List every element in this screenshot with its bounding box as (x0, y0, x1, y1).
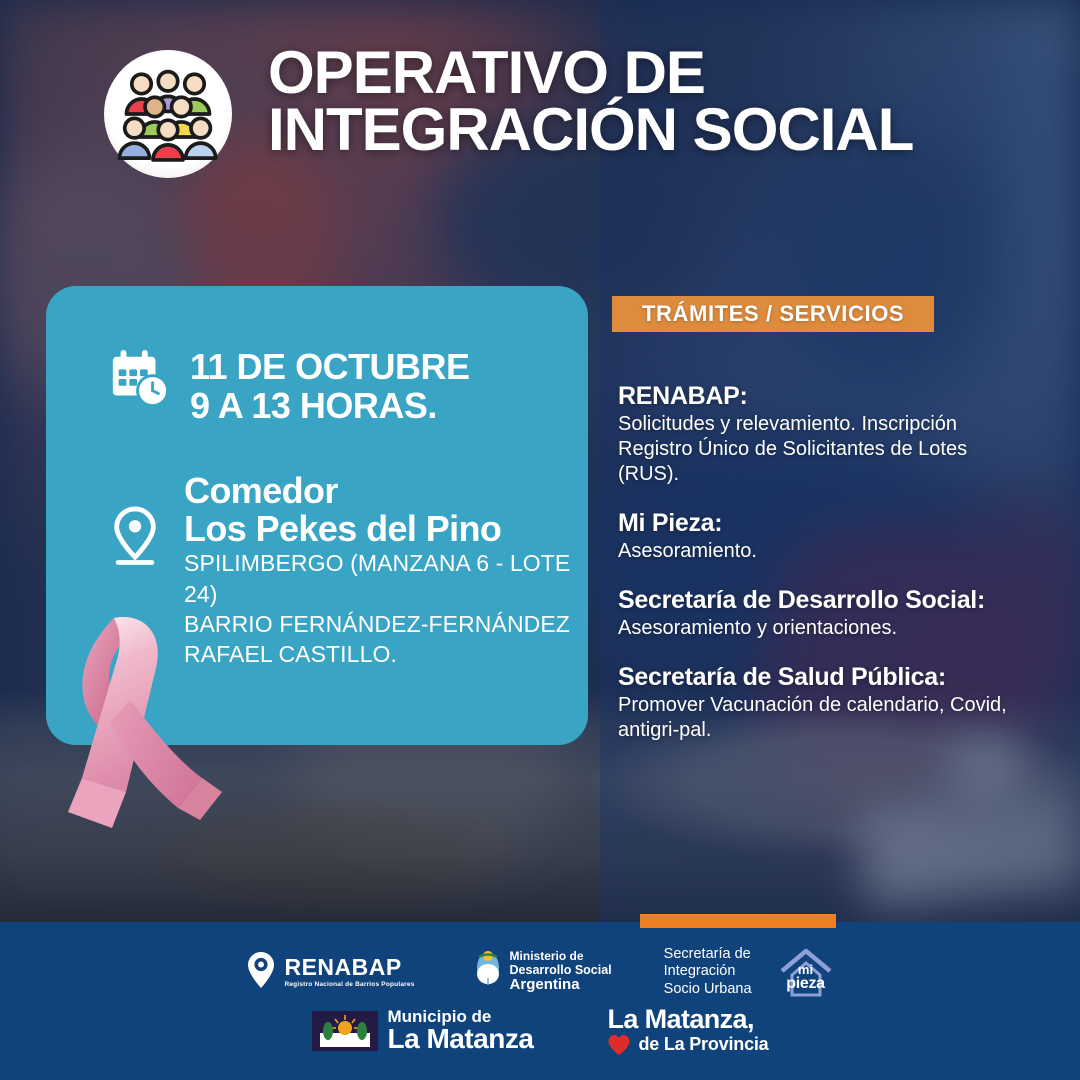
date-block: 11 DE OCTUBRE 9 A 13 HORAS. (108, 348, 470, 426)
secretaria-line-1: Secretaría de (664, 946, 752, 963)
heart-icon (607, 1034, 631, 1056)
la-matanza-crest-icon (312, 1011, 378, 1051)
service-heading: RENABAP: (618, 382, 1022, 411)
mi-pieza-logo: mi pieza (778, 947, 834, 997)
secretaria-line-2: Integración (664, 963, 752, 980)
title-line-2: INTEGRACIÓN SOCIAL (268, 101, 1058, 158)
municipio-line-2: La Matanza (388, 1025, 534, 1054)
footer-logo-row-2: Municipio de La Matanza La Matanza, de L… (0, 1006, 1080, 1056)
date-text: 11 DE OCTUBRE 9 A 13 HORAS. (190, 348, 470, 426)
venue-line-1: Comedor (184, 472, 578, 510)
page-title: OPERATIVO DE INTEGRACIÓN SOCIAL (268, 44, 1058, 158)
footer: RENABAP Registro Nacional de Barrios Pop… (0, 922, 1080, 1080)
services-list: RENABAP: Solicitudes y relevamiento. Ins… (618, 382, 1022, 765)
provincia-line-1: La Matanza, (607, 1006, 768, 1034)
date-line-1: 11 DE OCTUBRE (190, 348, 470, 387)
ministerio-line-2: Desarrollo Social (510, 963, 612, 977)
renabap-subtitle: Registro Nacional de Barrios Populares (284, 981, 414, 988)
argentina-shield-icon (473, 950, 503, 995)
secretaria-integracion-socio-urbana-logo: Secretaría de Integración Socio Urbana (664, 946, 752, 998)
renabap-logo: RENABAP Registro Nacional de Barrios Pop… (246, 951, 414, 994)
municipio-la-matanza-logo: Municipio de La Matanza (312, 1008, 534, 1054)
renabap-name: RENABAP (284, 956, 414, 979)
service-heading: Secretaría de Desarrollo Social: (618, 586, 1022, 615)
services-banner-label: TRÁMITES / SERVICIOS (642, 301, 904, 327)
location-pin-icon (108, 504, 162, 571)
poster-root: OPERATIVO DE INTEGRACIÓN SOCIAL (0, 0, 1080, 1080)
mi-pieza-text: mi pieza (778, 963, 834, 992)
la-matanza-provincia-logo: La Matanza, de La Provincia (607, 1006, 768, 1056)
footer-logo-row-1: RENABAP Registro Nacional de Barrios Pop… (0, 946, 1080, 998)
municipio-text: Municipio de La Matanza (388, 1008, 534, 1054)
mi-pieza-line-2: pieza (778, 976, 834, 992)
people-group-icon (104, 50, 232, 178)
header: OPERATIVO DE INTEGRACIÓN SOCIAL (0, 0, 1080, 200)
ministerio-text: Ministerio de Desarrollo Social Argentin… (510, 950, 612, 994)
venue-line-2: Los Pekes del Pino (184, 510, 578, 548)
service-item: RENABAP: Solicitudes y relevamiento. Ins… (618, 382, 1022, 487)
footer-accent-bar (640, 914, 836, 928)
service-heading: Secretaría de Salud Pública: (618, 663, 1022, 692)
ministerio-desarrollo-social-logo: Ministerio de Desarrollo Social Argentin… (473, 950, 612, 995)
service-item: Secretaría de Salud Pública: Promover Va… (618, 663, 1022, 743)
ministerio-line-1: Ministerio de (510, 950, 612, 963)
service-detail: Asesoramiento y orientaciones. (618, 616, 1022, 641)
pink-awareness-ribbon-icon (52, 596, 252, 846)
service-item: Mi Pieza: Asesoramiento. (618, 509, 1022, 564)
service-heading: Mi Pieza: (618, 509, 1022, 538)
service-item: Secretaría de Desarrollo Social: Asesora… (618, 586, 1022, 641)
renabap-pin-icon (246, 951, 276, 994)
renabap-text: RENABAP Registro Nacional de Barrios Pop… (284, 956, 414, 988)
service-detail: Asesoramiento. (618, 539, 1022, 564)
secretaria-line-3: Socio Urbana (664, 981, 752, 998)
services-banner: TRÁMITES / SERVICIOS (612, 296, 934, 332)
provincia-line-2-wrap: de La Provincia (607, 1034, 768, 1056)
service-detail: Solicitudes y relevamiento. Inscripción … (618, 412, 1022, 487)
calendar-clock-icon (108, 348, 170, 415)
provincia-line-2: de La Provincia (638, 1035, 768, 1053)
service-detail: Promover Vacunación de calendario, Covid… (618, 693, 1022, 743)
ministerio-line-3: Argentina (510, 977, 612, 994)
date-line-2: 9 A 13 HORAS. (190, 387, 470, 426)
